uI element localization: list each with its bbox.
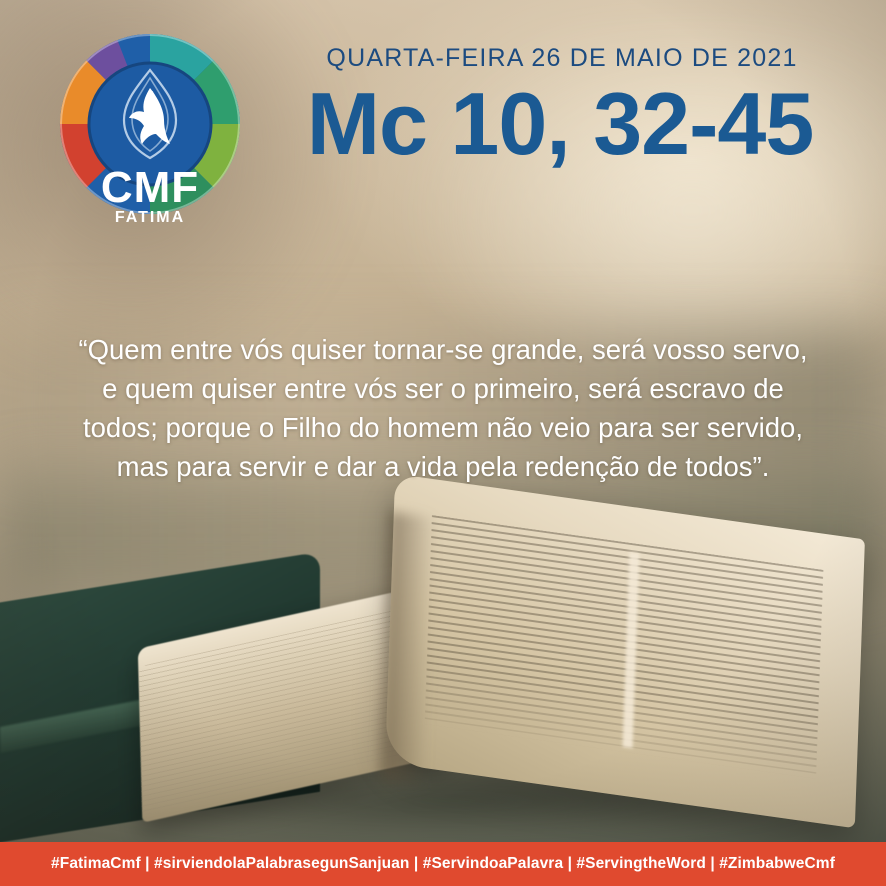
hashtag-list: #FatimaCmf | #sirviendolaPalabrasegunSan… <box>51 855 835 873</box>
quote-line-1: “Quem entre vós quiser tornar-se grande,… <box>18 330 868 369</box>
hashtag-footer-bar: #FatimaCmf | #sirviendolaPalabrasegunSan… <box>0 842 886 886</box>
quote-line-2: e quem quiser entre vós ser o primeiro, … <box>18 369 868 408</box>
quote-line-3: todos; porque o Filho do homem não veio … <box>18 408 868 447</box>
scripture-reference: Mc 10, 32-45 <box>250 78 870 170</box>
svg-text:FATIMA: FATIMA <box>115 209 185 222</box>
scripture-quote: “Quem entre vós quiser tornar-se grande,… <box>18 330 868 486</box>
cmf-fatima-logo: CMF FATIMA <box>52 26 248 222</box>
quote-line-4: mas para servir e dar a vida pela redenç… <box>18 447 868 486</box>
date-heading: QUARTA-FEIRA 26 DE MAIO DE 2021 <box>262 44 862 73</box>
devotional-card: CMF FATIMA QUARTA-FEIRA 26 DE MAIO DE 20… <box>0 0 886 886</box>
cmf-dove-flame-emblem: CMF FATIMA <box>52 26 248 222</box>
svg-text:CMF: CMF <box>101 163 199 212</box>
logo-acronym-text: CMF <box>101 163 199 212</box>
logo-subtitle-text: FATIMA <box>115 209 185 222</box>
book-gutter-shadow <box>380 511 435 786</box>
